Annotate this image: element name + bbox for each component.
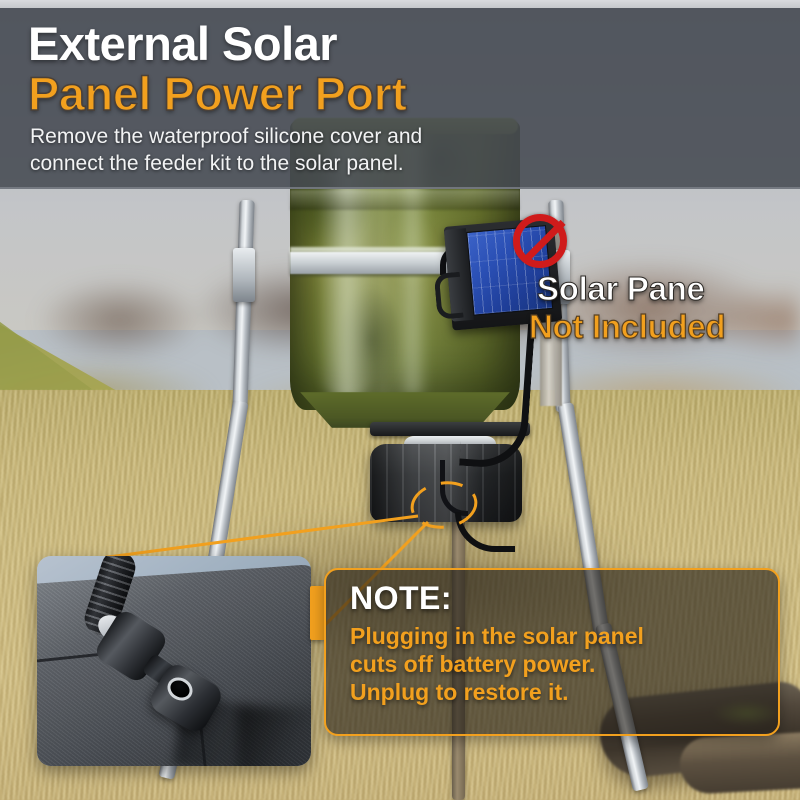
disclaimer-line-1: Solar Pane [537, 270, 705, 308]
headline-line-1: External Solar [28, 20, 337, 67]
solar-panel-bracket [434, 272, 464, 320]
note-body-line-1: Plugging in the solar panel [350, 622, 770, 650]
product-infographic-poster: External Solar Panel Power Port Remove t… [0, 0, 800, 800]
note-title: NOTE: [350, 580, 452, 617]
note-body-line-3: Unplug to restore it. [350, 678, 770, 706]
subtitle-line-1: Remove the waterproof silicone cover and [30, 124, 730, 151]
tripod-leg-left-upper [232, 200, 254, 410]
subtitle-line-2: connect the feeder kit to the solar pane… [30, 151, 730, 178]
mount-bracket-left [233, 248, 255, 302]
barrel-rib-upper [290, 190, 520, 210]
note-body-line-2: cuts off battery power. [350, 650, 770, 678]
note-box: NOTE: Plugging in the solar panel cuts o… [324, 568, 780, 736]
disclaimer-line-2: Not Included [529, 308, 725, 346]
note-accent-bar [310, 586, 325, 640]
inset-corner-shadow [237, 706, 311, 766]
no-entry-icon [513, 214, 567, 268]
headline-line-2: Panel Power Port [28, 70, 407, 117]
note-body: Plugging in the solar panel cuts off bat… [350, 622, 770, 706]
header-banner: External Solar Panel Power Port Remove t… [0, 8, 800, 189]
subtitle: Remove the waterproof silicone cover and… [30, 124, 730, 178]
top-strip [0, 0, 800, 8]
inset-detail-photo [37, 556, 311, 766]
